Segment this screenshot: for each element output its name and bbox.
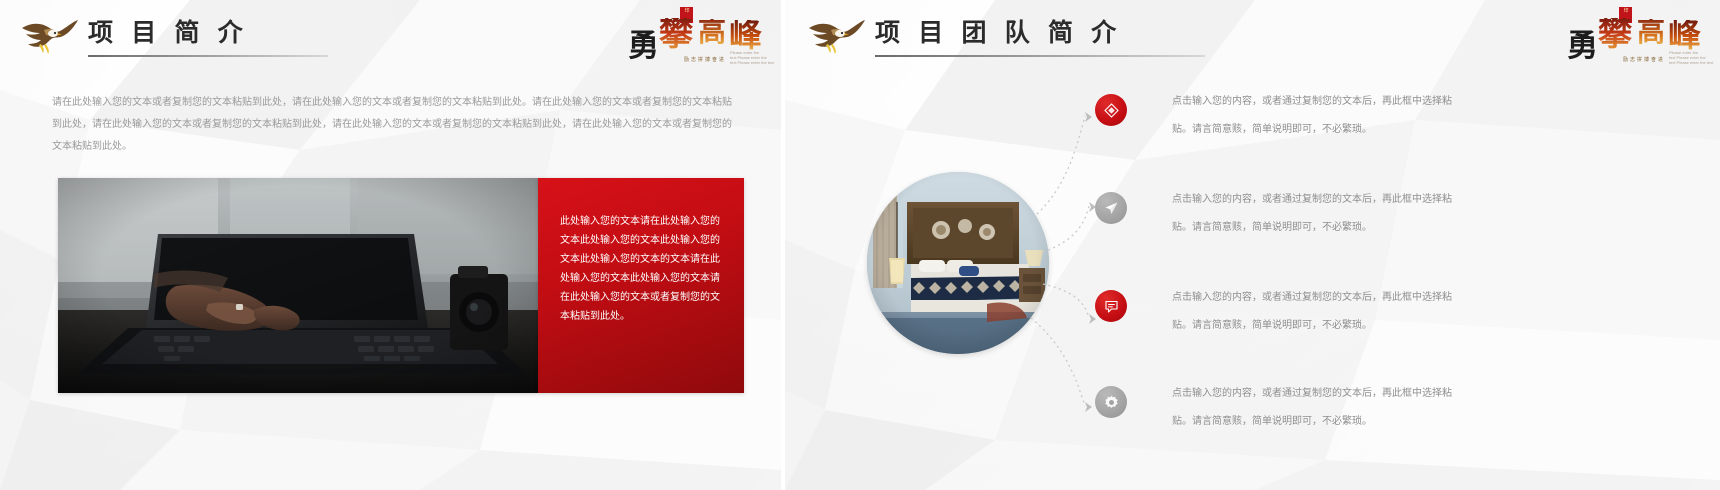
- brand-subtitle-en-line-3: text Please enter the text: [1669, 60, 1713, 65]
- list-item-text: 点击输入您的内容，或者通过复制您的文本后，再此框中选择粘 贴。请言简意赅，简单说…: [1172, 88, 1672, 144]
- page-title: 项 目 简 介: [88, 21, 328, 46]
- list-item-line-2: 贴。请言简意赅，简单说明即可，不必繁琐。: [1172, 116, 1672, 144]
- list-item-line-1: 点击输入您的内容，或者通过复制您的文本后，再此框中选择粘: [1172, 194, 1452, 205]
- page-title: 项 目 团 队 简 介: [875, 21, 1205, 46]
- list-item[interactable]: 点击输入您的内容，或者通过复制您的文本后，再此框中选择粘 贴。请言简意赅，简单说…: [1095, 380, 1695, 452]
- slide-2[interactable]: 项 目 团 队 简 介 印 勇 攀 高 峰 励志拼搏奋进 Please ente…: [785, 0, 1720, 490]
- brand-char-2: 攀: [659, 18, 693, 52]
- brand-subtitle-cn: 励志拼搏奋进: [684, 56, 726, 63]
- slide-1-title-block: 项 目 简 介: [88, 21, 328, 57]
- slide-1-red-textbox[interactable]: 此处输入您的文本请在此处输入您的文本此处输入您的文本此处输入您的文本此处输入您的…: [538, 178, 744, 393]
- brand-char-1: 勇: [628, 30, 659, 61]
- paper-plane-icon[interactable]: [1095, 192, 1127, 224]
- list-item[interactable]: 点击输入您的内容，或者通过复制您的文本后，再此框中选择粘 贴。请言简意赅，简单说…: [1095, 186, 1695, 258]
- slide-2-header: 项 目 团 队 简 介 印 勇 攀 高 峰 励志拼搏奋进 Please ente…: [785, 0, 1720, 78]
- list-item-line-2: 贴。请言简意赅，简单说明即可，不必繁琐。: [1172, 408, 1672, 436]
- chat-bubble-icon[interactable]: [1095, 290, 1127, 322]
- slide-1-photo: [58, 178, 538, 393]
- slide-1-red-textbox-text: 此处输入您的文本请在此处输入您的文本此处输入您的文本此处输入您的文本此处输入您的…: [560, 212, 724, 326]
- brand-logo-slide-2: 印 勇 攀 高 峰 励志拼搏奋进 Please enter the text P…: [1565, 6, 1715, 68]
- list-item-line-1: 点击输入您的内容，或者通过复制您的文本后，再此框中选择粘: [1172, 96, 1452, 107]
- title-divider: [88, 55, 328, 57]
- list-item[interactable]: 点击输入您的内容，或者通过复制您的文本后，再此框中选择粘 贴。请言简意赅，简单说…: [1095, 284, 1695, 356]
- brand-subtitle-cn: 励志拼搏奋进: [1623, 56, 1665, 63]
- brand-char-4: 峰: [729, 20, 762, 53]
- list-item-line-1: 点击输入您的内容，或者通过复制您的文本后，再此框中选择粘: [1172, 388, 1452, 399]
- title-divider: [875, 55, 1205, 57]
- brand-char-1: 勇: [1567, 30, 1598, 61]
- brand-subtitle-en-line-3: text Please enter the text: [730, 60, 774, 65]
- eagle-icon: [20, 18, 82, 60]
- slide-2-title-block: 项 目 团 队 简 介: [875, 21, 1205, 57]
- brand-subtitle-en: Please enter the text Please enter the t…: [730, 50, 774, 65]
- slide-1[interactable]: 项 目 简 介 印 勇 攀 高 峰 励志拼搏奋进 Please enter th…: [0, 0, 781, 490]
- list-item-text: 点击输入您的内容，或者通过复制您的文本后，再此框中选择粘 贴。请言简意赅，简单说…: [1172, 284, 1672, 340]
- list-item-line-2: 贴。请言简意赅，简单说明即可，不必繁琐。: [1172, 214, 1672, 242]
- list-item-line-1: 点击输入您的内容，或者通过复制您的文本后，再此框中选择粘: [1172, 292, 1452, 303]
- list-item-text: 点击输入您的内容，或者通过复制您的文本后，再此框中选择粘 贴。请言简意赅，简单说…: [1172, 380, 1672, 436]
- slide-2-photo: [867, 172, 1049, 354]
- list-item-text: 点击输入您的内容，或者通过复制您的文本后，再此框中选择粘 贴。请言简意赅，简单说…: [1172, 186, 1672, 242]
- list-item[interactable]: 点击输入您的内容，或者通过复制您的文本后，再此框中选择粘 贴。请言简意赅，简单说…: [1095, 88, 1695, 160]
- brand-char-3: 高: [698, 19, 726, 47]
- brand-char-3: 高: [1637, 19, 1665, 47]
- gear-icon[interactable]: [1095, 386, 1127, 418]
- brand-char-2: 攀: [1598, 18, 1632, 52]
- slide-deck: 项 目 简 介 印 勇 攀 高 峰 励志拼搏奋进 Please enter th…: [0, 0, 1720, 490]
- slide-1-paragraph: 请在此处输入您的文本或者复制您的文本粘贴到此处，请在此处输入您的文本或者复制您的…: [52, 92, 732, 158]
- brand-logo-slide-1: 印 勇 攀 高 峰 励志拼搏奋进 Please enter the text P…: [626, 6, 776, 68]
- brand-subtitle-en: Please enter the text Please enter the t…: [1669, 50, 1713, 65]
- list-item-line-2: 贴。请言简意赅，简单说明即可，不必繁琐。: [1172, 312, 1672, 340]
- brand-char-4: 峰: [1668, 20, 1701, 53]
- slide-1-header: 项 目 简 介 印 勇 攀 高 峰 励志拼搏奋进 Please enter th…: [0, 0, 781, 78]
- diamond-icon[interactable]: [1095, 94, 1127, 126]
- eagle-icon: [807, 18, 869, 60]
